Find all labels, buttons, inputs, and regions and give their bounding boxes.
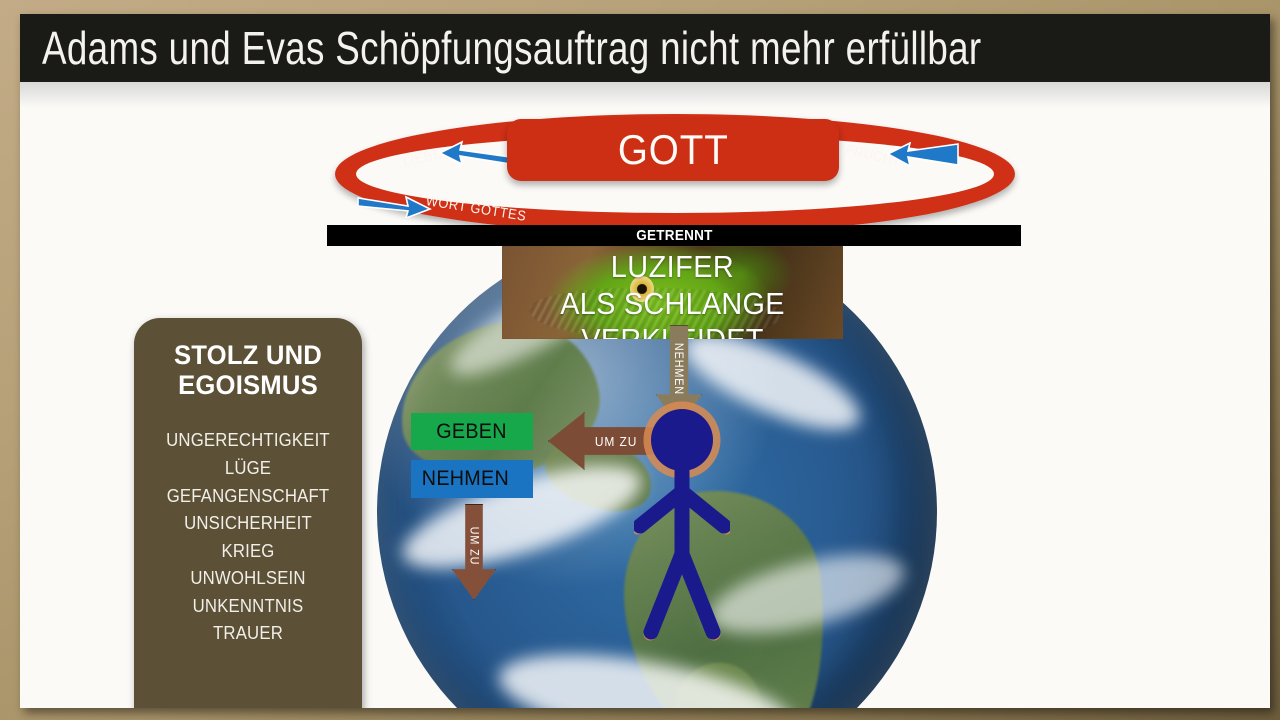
list-item: GEFANGENSCHAFT xyxy=(153,483,343,511)
sin-panel: STOLZ UND EGOISMUS UNGERECHTIGKEIT LÜGE … xyxy=(134,318,362,708)
panel-title-line2: EGOISMUS xyxy=(151,370,345,400)
list-item: LÜGE xyxy=(153,455,343,483)
list-item: KRIEG xyxy=(153,538,343,566)
panel-title: STOLZ UND EGOISMUS xyxy=(151,340,345,400)
arrow-left-icon xyxy=(438,140,512,166)
human-stick-figure xyxy=(634,400,730,642)
god-label: GOTT xyxy=(617,126,728,174)
give-label: GEBEN xyxy=(436,420,507,444)
lucifer-title: LUZIFER xyxy=(514,249,831,285)
slide-canvas: Adams und Evas Schöpfungsauftrag nicht m… xyxy=(20,14,1270,708)
title-bar: Adams und Evas Schöpfungsauftrag nicht m… xyxy=(20,14,1270,82)
arrow-right-icon xyxy=(356,192,432,218)
panel-title-line1: STOLZ UND xyxy=(151,340,345,370)
panel-list: UNGERECHTIGKEIT LÜGE GEFANGENSCHAFT UNSI… xyxy=(146,427,350,647)
arrow-label-um-zu: UM ZU xyxy=(467,527,481,566)
separated-bar: GETRENNT xyxy=(327,225,1021,246)
slide-frame: Adams und Evas Schöpfungsauftrag nicht m… xyxy=(0,0,1280,720)
page-title: Adams und Evas Schöpfungsauftrag nicht m… xyxy=(42,21,982,75)
list-item: UNGERECHTIGKEIT xyxy=(153,427,343,455)
arrow-down-um-zu: UM ZU xyxy=(452,504,496,600)
separated-label: GETRENNT xyxy=(636,227,712,244)
god-box[interactable]: GOTT xyxy=(507,119,839,181)
list-item: UNSICHERHEIT xyxy=(153,510,343,538)
list-item: TRAUER xyxy=(153,620,343,648)
list-item: UNWOHLSEIN xyxy=(153,565,343,593)
diagram-stage: LIEBE WORT GOTTES FRUCHT GOTT GETRENNT xyxy=(20,82,1270,708)
arrow-label-um-zu: UM ZU xyxy=(595,434,637,449)
take-label: NEHMEN xyxy=(422,467,509,491)
give-box[interactable]: GEBEN xyxy=(411,413,533,450)
take-box[interactable]: NEHMEN xyxy=(411,460,533,498)
stick-figure-icon xyxy=(634,400,730,642)
arrow-left-icon xyxy=(886,142,960,168)
arrow-label-nehmen: NEHMEN xyxy=(672,343,686,395)
list-item: UNKENNTNIS xyxy=(153,593,343,621)
